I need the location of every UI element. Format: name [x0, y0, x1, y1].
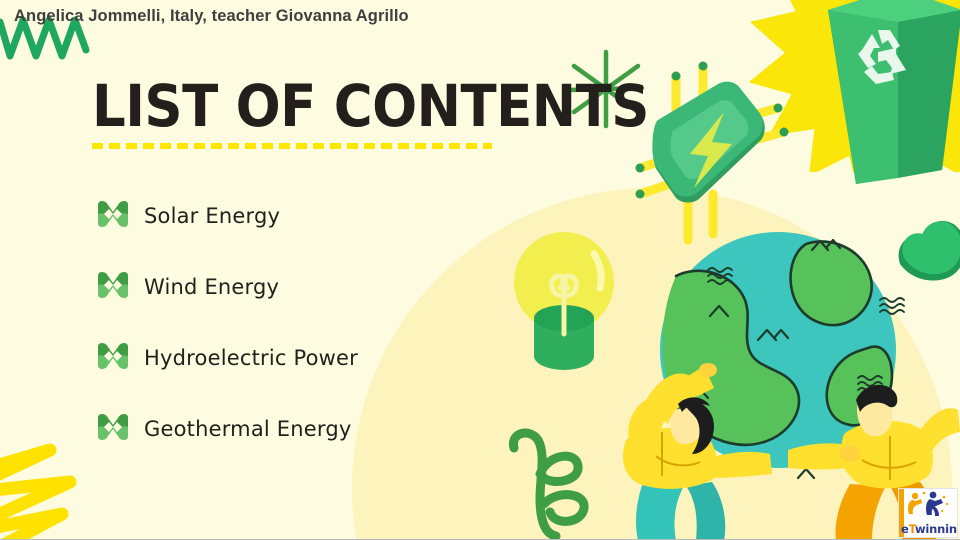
list-item-label: Wind Energy — [144, 275, 279, 299]
zigzag-bullet-icon — [96, 199, 130, 233]
list-item-label: Hydroelectric Power — [144, 346, 358, 370]
list-item[interactable]: Wind Energy — [96, 251, 358, 322]
zigzag-bullet-icon — [96, 270, 130, 304]
list-item[interactable]: Solar Energy — [96, 180, 358, 251]
recycle-bin-icon — [820, 0, 960, 198]
author-credit-line: Angelica Jommelli, Italy, teacher Giovan… — [14, 7, 409, 26]
logo-word-before: e — [901, 522, 909, 536]
list-item-label: Solar Energy — [144, 204, 280, 228]
pale-circle-backdrop — [352, 188, 952, 540]
list-item[interactable]: Geothermal Energy — [96, 393, 358, 464]
etwinning-figures-icon — [904, 491, 952, 517]
zigzag-bullet-icon — [96, 341, 130, 375]
title-block: LIST OF CONTENTS — [92, 74, 617, 149]
zigzag-bullet-icon — [96, 412, 130, 446]
slide-canvas: Angelica Jommelli, Italy, teacher Giovan… — [0, 0, 960, 540]
logo-word-after: winning — [915, 522, 958, 536]
list-item[interactable]: Hydroelectric Power — [96, 322, 358, 393]
energy-chip-icon — [628, 58, 796, 248]
bush-decoration — [892, 206, 960, 310]
person-left-illustration — [623, 363, 772, 540]
list-item-label: Geothermal Energy — [144, 417, 352, 441]
sun-starburst-icon — [742, 0, 960, 172]
etwinning-wordmark: eTwinning — [901, 522, 957, 536]
earth-globe-icon — [656, 232, 922, 478]
vine-curl-decoration — [500, 414, 612, 540]
page-title: LIST OF CONTENTS — [92, 74, 649, 138]
title-dashed-underline — [92, 143, 492, 149]
etwinning-logo[interactable]: eTwinning — [898, 488, 958, 538]
contents-list: Solar Energy Wind Energy Hydroelectric P… — [96, 180, 358, 464]
lightbulb-icon — [508, 226, 620, 378]
